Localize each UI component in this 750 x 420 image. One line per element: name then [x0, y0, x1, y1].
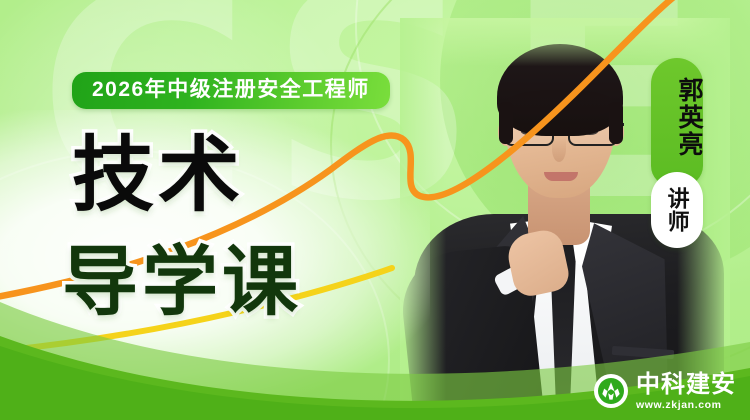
instructor-badge: 郭英亮 讲师	[651, 58, 703, 248]
brand-name: 中科建安	[636, 373, 736, 397]
instructor-role: 讲师	[651, 172, 703, 248]
brand-logo[interactable]: 中科建安 www.zkjan.com	[594, 373, 736, 411]
page-title-main: 技术	[72, 135, 244, 217]
mountain-star-icon	[594, 374, 628, 408]
course-subtitle-badge: 2026年中级注册安全工程师	[72, 72, 390, 109]
course-cover-banner: C S E	[0, 0, 750, 420]
instructor-sideburn-right	[609, 102, 623, 144]
brand-logo-text: 中科建安 www.zkjan.com	[636, 373, 736, 411]
page-title-sub: 导学课	[62, 245, 302, 321]
instructor-hair	[497, 44, 623, 136]
instructor-name: 郭英亮	[651, 58, 703, 186]
brand-url: www.zkjan.com	[636, 400, 736, 411]
instructor-mouth	[544, 172, 578, 181]
instructor-sideburn-left	[499, 102, 513, 144]
